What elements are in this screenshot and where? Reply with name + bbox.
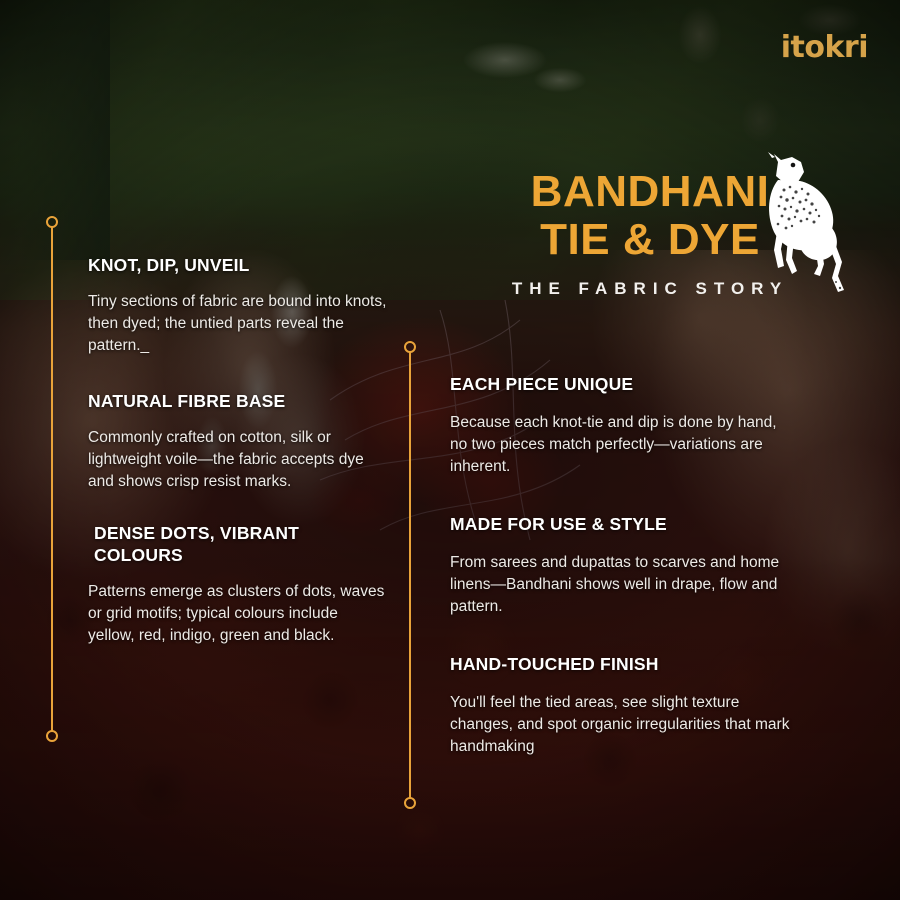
entry-body: From sarees and dupattas to scarves and …	[450, 552, 790, 618]
entry-body: You'll feel the tied areas, see slight t…	[450, 692, 790, 758]
rail-dot-bottom-middle	[404, 797, 416, 809]
timeline-rail-middle	[404, 341, 416, 809]
entry-body: Commonly crafted on cotton, silk or ligh…	[88, 427, 388, 493]
entry-title: MADE FOR USE & STYLE	[450, 514, 790, 536]
entry-title: DENSE DOTS, VIBRANT COLOURS	[88, 523, 388, 567]
left-entry-natural-fibre-base: NATURAL FIBRE BASE Commonly crafted on c…	[88, 391, 388, 493]
entry-body: Patterns emerge as clusters of dots, wav…	[88, 581, 388, 647]
rail-line-left	[51, 227, 53, 731]
entry-title: KNOT, DIP, UNVEIL	[88, 255, 388, 277]
left-entry-knot-dip-unveil: KNOT, DIP, UNVEIL Tiny sections of fabri…	[88, 255, 388, 357]
goat-illustration-icon	[748, 152, 848, 300]
timeline-rail-left	[46, 216, 58, 742]
right-entry-each-piece-unique: EACH PIECE UNIQUE Because each knot-tie …	[450, 374, 790, 478]
left-entry-dense-dots-vibrant-colours: DENSE DOTS, VIBRANT COLOURS Patterns eme…	[88, 523, 388, 647]
right-entry-made-for-use-and-style: MADE FOR USE & STYLE From sarees and dup…	[450, 514, 790, 618]
entry-title: EACH PIECE UNIQUE	[450, 374, 790, 396]
infographic-poster: itokri BANDHANI TIE & DYE THE FABRIC STO…	[0, 0, 900, 900]
rail-dot-bottom-left	[46, 730, 58, 742]
entry-title: HAND-TOUCHED FINISH	[450, 654, 790, 676]
brand-logo[interactable]: itokri	[781, 33, 868, 63]
right-entry-hand-touched-finish: HAND-TOUCHED FINISH You'll feel the tied…	[450, 654, 790, 758]
right-column: EACH PIECE UNIQUE Because each knot-tie …	[450, 374, 790, 758]
entry-title: NATURAL FIBRE BASE	[88, 391, 388, 413]
poster-content: itokri BANDHANI TIE & DYE THE FABRIC STO…	[0, 0, 900, 900]
entry-body: Because each knot-tie and dip is done by…	[450, 412, 790, 478]
entry-body: Tiny sections of fabric are bound into k…	[88, 291, 388, 357]
rail-line-middle	[409, 352, 411, 798]
left-column: KNOT, DIP, UNVEIL Tiny sections of fabri…	[88, 255, 388, 647]
